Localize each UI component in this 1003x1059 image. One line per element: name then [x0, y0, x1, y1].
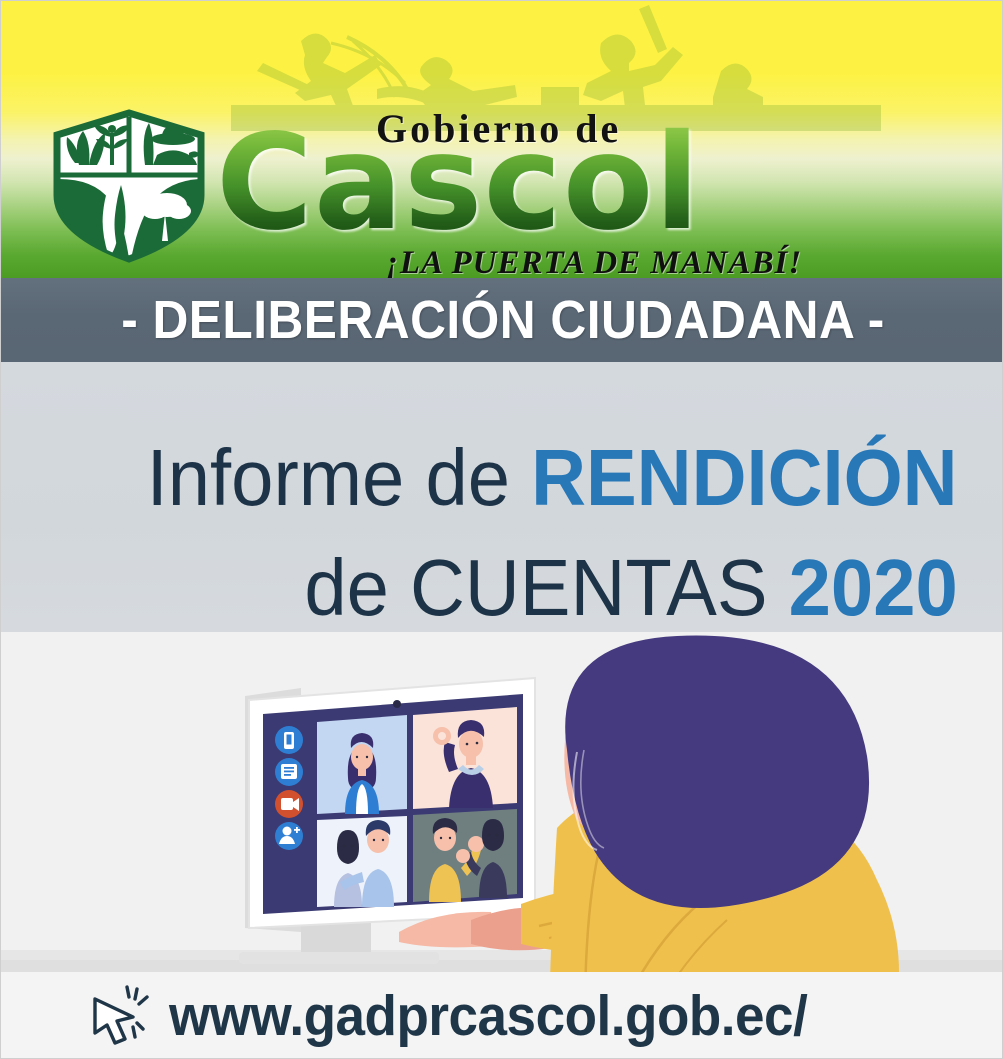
tile-two-people-waving	[413, 809, 517, 902]
title-line-2: de CUENTAS 2020	[305, 548, 958, 628]
video-camera-icon	[275, 790, 303, 818]
institution-slogan: ¡LA PUERTA DE MANABÍ!	[386, 245, 802, 278]
title-line-2-plain: de CUENTAS	[305, 543, 789, 632]
title-block: Informe de RENDICIÓN de CUENTAS 2020	[1, 362, 1003, 632]
click-cursor-icon	[87, 983, 153, 1049]
poster-root: Gobierno de Cascol ¡LA PUERTA DE MANABÍ!…	[0, 0, 1003, 1059]
website-url[interactable]: www.gadprcascol.gob.ec/	[169, 983, 807, 1049]
video-conference-illustration: www.gadprcascol.gob.ec/	[1, 632, 1003, 1059]
tile-man-ok-gesture	[413, 707, 517, 809]
institution-banner: Gobierno de Cascol ¡LA PUERTA DE MANABÍ!	[1, 1, 1003, 278]
institution-name: Cascol	[216, 117, 701, 249]
tile-couple	[317, 816, 407, 907]
add-participant-icon	[275, 822, 303, 850]
title-line-1-plain: Informe de	[147, 433, 531, 522]
title-line-1: Informe de RENDICIÓN	[147, 438, 958, 518]
website-footer[interactable]: www.gadprcascol.gob.ec/	[1, 972, 1003, 1059]
deliberacion-band: - DELIBERACIÓN CIUDADANA -	[1, 278, 1003, 362]
title-line-2-accent: 2020	[789, 543, 958, 632]
chat-list-icon	[275, 758, 303, 786]
tile-woman-blue-jacket	[317, 715, 407, 814]
cascol-shield-emblem-icon	[49, 109, 209, 264]
title-line-1-accent: RENDICIÓN	[532, 433, 958, 522]
deliberacion-band-text: - DELIBERACIÓN CIUDADANA -	[121, 289, 885, 351]
institution-wordmark: Gobierno de Cascol ¡LA PUERTA DE MANABÍ!	[216, 101, 956, 276]
phone-icon	[275, 726, 303, 754]
